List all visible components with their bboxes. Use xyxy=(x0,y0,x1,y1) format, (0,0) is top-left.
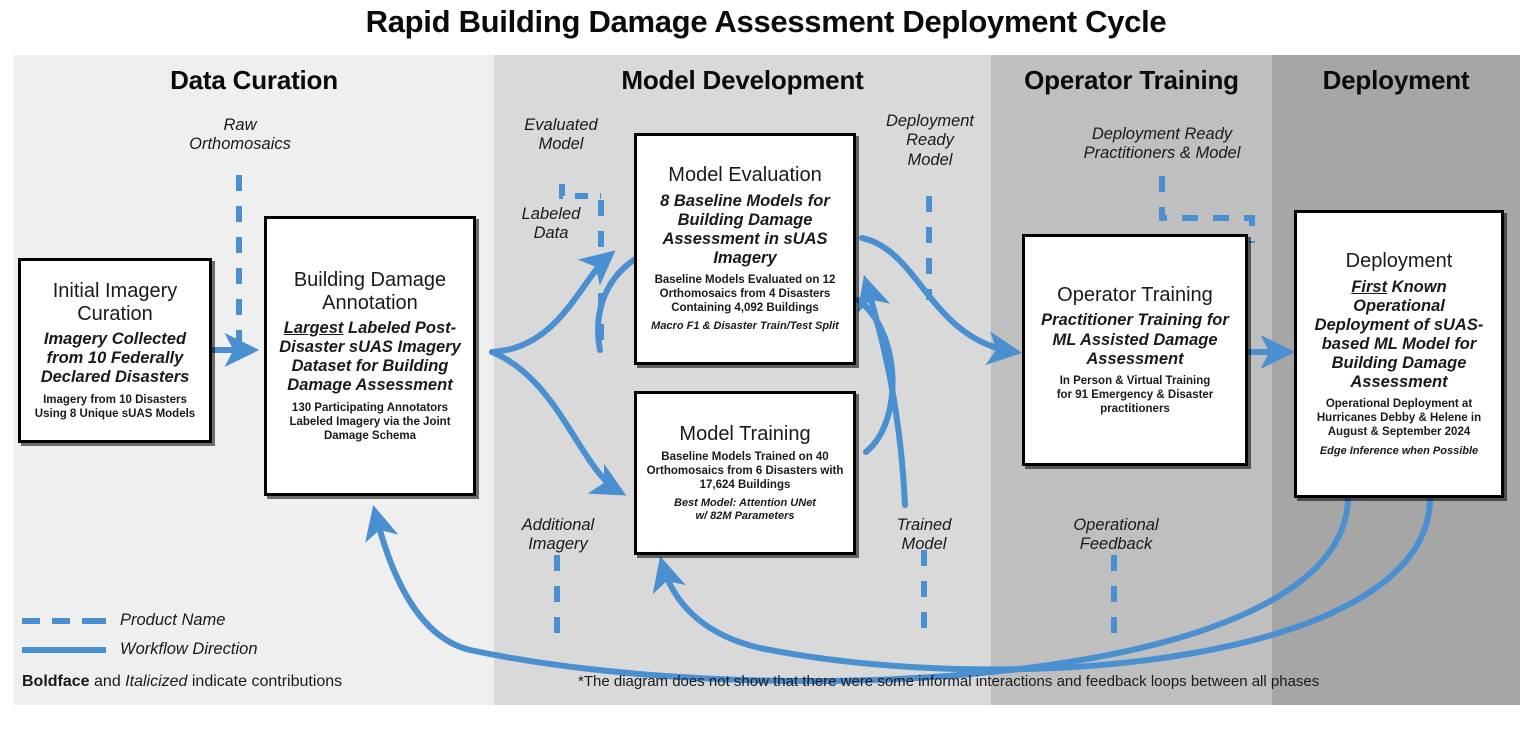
box-deployment[interactable]: Deployment First Known Operational Deplo… xyxy=(1294,210,1504,498)
legend-note-end: indicate contributions xyxy=(187,673,342,690)
box-claim: First Known Operational Deployment of sU… xyxy=(1304,278,1494,393)
box-claim: 8 Baseline Models for Building Damage As… xyxy=(644,192,846,269)
box-detail: Imagery from 10 Disasters Using 8 Unique… xyxy=(35,393,195,421)
flow-label-labeled-data: Labeled Data xyxy=(498,205,604,244)
flow-label-deployment-ready-model: Deployment Ready Model xyxy=(865,112,995,170)
box-claim: Practitioner Training for ML Assisted Da… xyxy=(1032,311,1238,368)
box-detail: In Person & Virtual Training for 91 Emer… xyxy=(1057,374,1214,416)
box-note: Best Model: Attention UNet w/ 82M Parame… xyxy=(674,497,816,523)
box-title: Deployment xyxy=(1346,250,1453,272)
box-claim: Imagery Collected from 10 Federally Decl… xyxy=(28,330,202,387)
flow-label-evaluated-model: Evaluated Model xyxy=(500,116,622,155)
dashed-evaluated-model-elbow xyxy=(562,184,601,196)
legend-row-workflow-direction: Workflow Direction xyxy=(22,635,472,664)
legend-label-product-name: Product Name xyxy=(120,611,225,630)
box-title: Model Evaluation xyxy=(668,164,821,186)
legend-note: Boldface and Italicized indicate contrib… xyxy=(22,673,472,691)
legend: Product Name Workflow Direction Boldface… xyxy=(22,606,472,691)
legend-note-mid: and xyxy=(90,673,126,690)
box-title: Operator Training xyxy=(1057,284,1213,306)
legend-label-workflow-direction: Workflow Direction xyxy=(120,640,258,659)
box-initial-imagery-curation[interactable]: Initial Imagery Curation Imagery Collect… xyxy=(18,258,212,443)
flow-label-raw-orthomosaics: Raw Orthomosaics xyxy=(170,116,310,155)
box-detail: Baseline Models Evaluated on 12 Orthomos… xyxy=(655,273,836,315)
box-detail: Operational Deployment at Hurricanes Deb… xyxy=(1317,397,1481,439)
box-building-damage-annotation[interactable]: Building Damage Annotation Largest Label… xyxy=(264,216,476,496)
box-title: Initial Imagery Curation xyxy=(53,280,178,325)
box-title: Model Training xyxy=(679,423,810,445)
legend-note-italic: Italicized xyxy=(125,673,187,690)
flow-label-additional-imagery: Additional Imagery xyxy=(495,516,621,555)
footnote: *The diagram does not show that there we… xyxy=(578,673,1528,690)
solid-line-icon xyxy=(22,647,106,653)
arrow-annotation-to-evaluation xyxy=(492,255,610,352)
box-detail: 130 Participating Annotators Labeled Ima… xyxy=(289,401,450,443)
dashed-deployment-ready-practitioners-elbow xyxy=(1162,176,1252,243)
dashed-line-icon xyxy=(22,618,106,624)
box-model-training[interactable]: Model Training Baseline Models Trained o… xyxy=(634,391,856,555)
box-model-evaluation[interactable]: Model Evaluation 8 Baseline Models for B… xyxy=(634,133,856,365)
box-claim-rest: Known Operational Deployment of sUAS-bas… xyxy=(1315,278,1484,392)
box-note: Edge Inference when Possible xyxy=(1320,445,1478,458)
box-operator-training[interactable]: Operator Training Practitioner Training … xyxy=(1022,234,1248,466)
diagram-canvas: Rapid Building Damage Assessment Deploym… xyxy=(0,0,1532,740)
flow-label-trained-model: Trained Model xyxy=(862,516,986,555)
box-claim-underlined: Largest xyxy=(284,319,344,337)
arrow-annotation-to-training xyxy=(492,352,620,492)
box-title: Building Damage Annotation xyxy=(294,269,446,314)
flow-label-deployment-ready-practitioners: Deployment Ready Practitioners & Model xyxy=(1040,125,1284,164)
box-detail: Baseline Models Trained on 40 Orthomosai… xyxy=(647,450,844,492)
legend-note-bold: Boldface xyxy=(22,673,90,690)
flow-label-operational-feedback: Operational Feedback xyxy=(1046,516,1186,555)
box-claim-underlined: First xyxy=(1351,278,1387,296)
box-claim: Largest Labeled Post-Disaster sUAS Image… xyxy=(274,319,466,396)
legend-row-product-name: Product Name xyxy=(22,606,472,635)
box-note: Macro F1 & Disaster Train/Test Split xyxy=(651,320,839,333)
